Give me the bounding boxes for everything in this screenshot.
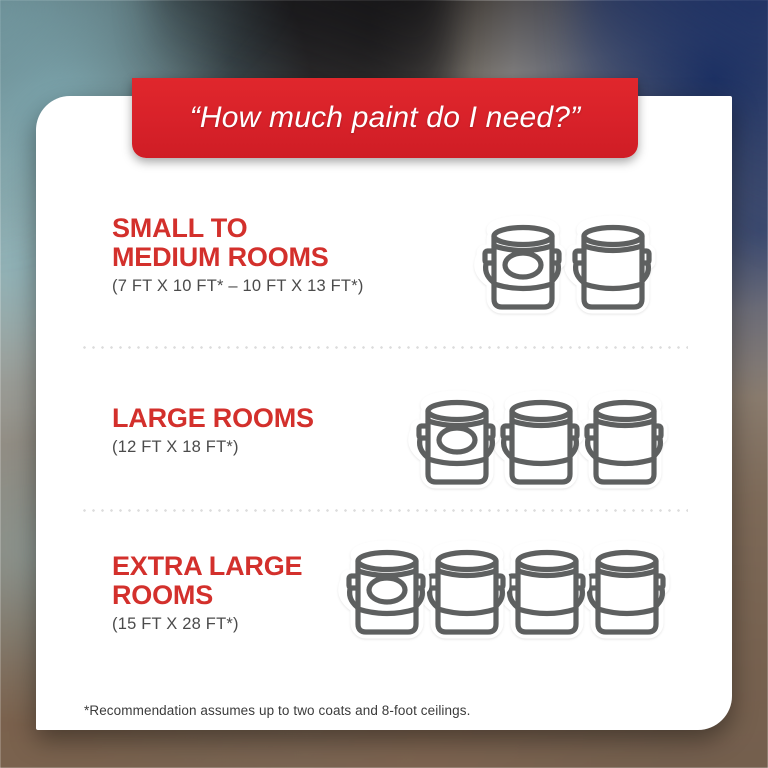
paint-can-1 [470,214,574,320]
paint-can-icon [334,539,438,645]
paint-can-group-extra-large-rooms [334,539,678,645]
header-banner-title: “How much paint do I need?” [190,101,581,135]
divider-1 [80,346,688,349]
header-banner: “How much paint do I need?” [132,78,638,158]
row-title-line-1: SMALL TO [112,214,472,243]
row-title-line-2: MEDIUM ROOMS [112,243,472,272]
paint-can-icon [404,389,508,495]
divider-2 [80,509,688,512]
paint-can-group-large-rooms [404,389,676,495]
row-dimensions-small-to-medium-rooms: (7 FT X 10 FT* – 10 FT X 13 FT*) [112,277,472,296]
footnote: *Recommendation assumes up to two coats … [84,703,470,718]
paint-can-1 [334,539,438,645]
row-text-small-to-medium-rooms: SMALL TO MEDIUM ROOMS (7 FT X 10 FT* – 1… [112,214,472,296]
paint-can-icon [560,214,664,320]
paint-can-2 [560,214,664,320]
info-card: SMALL TO MEDIUM ROOMS (7 FT X 10 FT* – 1… [36,96,732,730]
row-title-small-to-medium-rooms: SMALL TO MEDIUM ROOMS [112,214,472,272]
paint-can-icon [470,214,574,320]
paint-can-1 [404,389,508,495]
paint-can-group-small-to-medium-rooms [470,214,664,320]
